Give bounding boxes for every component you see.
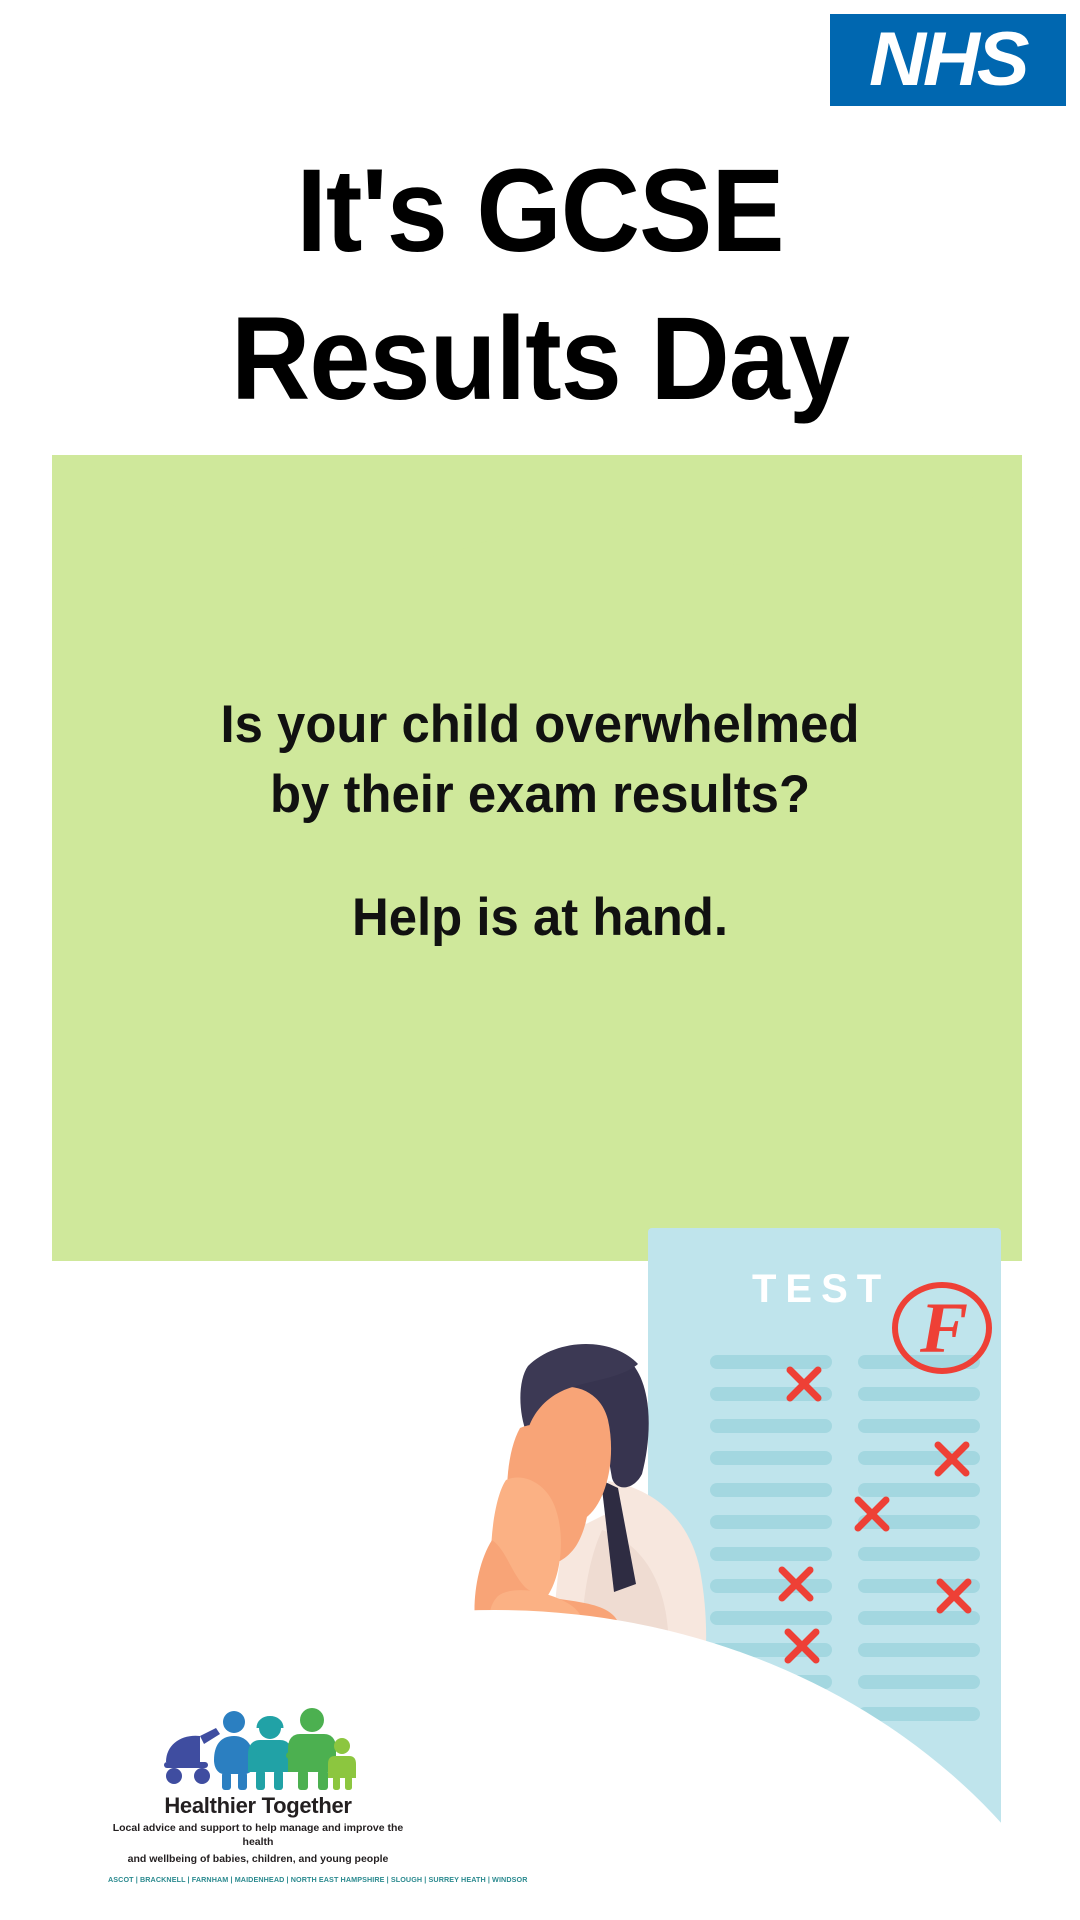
healthier-together-logo: Healthier Together Local advice and supp…	[108, 1706, 408, 1884]
svg-text:TEST: TEST	[752, 1267, 890, 1311]
brand-tagline-line-2: and wellbeing of babies, children, and y…	[108, 1853, 408, 1866]
page-title: It's GCSE Results Day	[38, 138, 1042, 433]
headline-line-2: Results Day	[38, 286, 1042, 434]
brand-name: Healthier Together	[108, 1794, 408, 1818]
question-line-2: by their exam results?	[108, 760, 972, 830]
locations-list: ASCOT | BRACKNELL | FARNHAM | MAIDENHEAD…	[108, 1876, 408, 1885]
nhs-logo-text: NHS	[869, 22, 1027, 98]
poster-canvas: NHS It's GCSE Results Day Is your child …	[0, 0, 1080, 1920]
family-figures-icon	[160, 1706, 356, 1792]
call-to-action-text: Help is at hand.	[108, 883, 972, 953]
body-copy: Is your child overwhelmed by their exam …	[108, 690, 972, 953]
svg-text:F: F	[919, 1288, 968, 1368]
scalloped-top-edge	[52, 448, 1022, 568]
headline-line-1: It's GCSE	[296, 145, 783, 277]
question-line-1: Is your child overwhelmed	[108, 690, 972, 760]
nhs-logo: NHS	[830, 14, 1066, 106]
brand-tagline-line-1: Local advice and support to help manage …	[108, 1822, 408, 1849]
copy-spacer	[108, 831, 972, 883]
